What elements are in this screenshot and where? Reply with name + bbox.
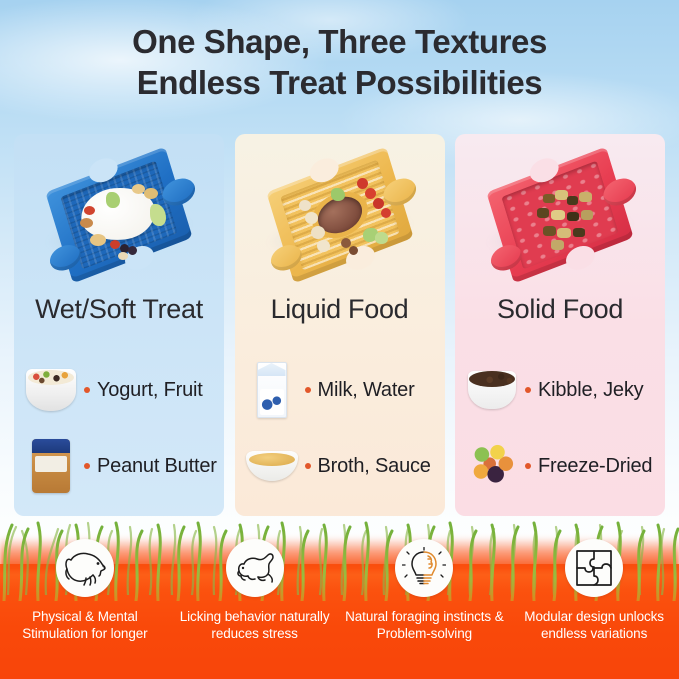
kibble-bowl-icon bbox=[463, 361, 521, 419]
lightbulb-brain-icon bbox=[395, 539, 453, 597]
benefit-modular[interactable]: Modular design unlocks endless variation… bbox=[509, 539, 679, 675]
card-item-list-solid: Kibble, Jeky Freeze-Dried bbox=[455, 352, 665, 504]
texture-card-row: PAWSOME STAY PAWSIT bbox=[0, 134, 679, 516]
card-heading-solid: Solid Food bbox=[455, 294, 665, 325]
benefit-physical-mental[interactable]: Physical & Mental Stimulation for longer bbox=[0, 539, 170, 675]
card-item-list-liquid: Milk, Water Broth, Sauce bbox=[235, 352, 445, 504]
peanut-butter-jar-icon bbox=[22, 437, 80, 495]
bullet-dot bbox=[525, 463, 531, 469]
list-item[interactable]: Freeze-Dried bbox=[455, 428, 665, 504]
bullet-dot bbox=[525, 387, 531, 393]
broth-bowl-icon bbox=[243, 437, 301, 495]
page-title: One Shape, Three Textures Endless Treat … bbox=[0, 22, 679, 104]
list-item-label: Broth, Sauce bbox=[318, 455, 431, 478]
milk-carton-icon bbox=[243, 361, 301, 419]
card-item-list-wet-soft: Yogurt, Fruit Peanut Butter bbox=[14, 352, 224, 504]
list-item-label: Yogurt, Fruit bbox=[97, 379, 203, 402]
freeze-dried-fruit-icon bbox=[463, 437, 521, 495]
card-liquid-food[interactable]: Liquid Food Milk, Water Broth, Sauce bbox=[235, 134, 445, 516]
benefits-row: Physical & Mental Stimulation for longer… bbox=[0, 539, 679, 675]
list-item[interactable]: Peanut Butter bbox=[14, 428, 224, 504]
bullet-dot bbox=[305, 463, 311, 469]
title-line-1: One Shape, Three Textures bbox=[132, 23, 547, 60]
list-item[interactable]: Milk, Water bbox=[235, 352, 445, 428]
card-heading-liquid: Liquid Food bbox=[235, 294, 445, 325]
bullet-dot bbox=[84, 387, 90, 393]
benefit-label: Modular design unlocks endless variation… bbox=[509, 608, 679, 643]
list-item[interactable]: Broth, Sauce bbox=[235, 428, 445, 504]
list-item-label: Kibble, Jeky bbox=[538, 379, 643, 402]
food-crumbs bbox=[235, 140, 445, 290]
benefit-licking[interactable]: Licking behavior naturally reduces stres… bbox=[170, 539, 340, 675]
bullet-dot bbox=[305, 387, 311, 393]
food-crumbs bbox=[455, 140, 665, 290]
list-item[interactable]: Yogurt, Fruit bbox=[14, 352, 224, 428]
puzzle-grid-icon bbox=[565, 539, 623, 597]
list-item[interactable]: Kibble, Jeky bbox=[455, 352, 665, 428]
bullet-dot bbox=[84, 463, 90, 469]
list-item-label: Peanut Butter bbox=[97, 455, 217, 478]
list-item-label: Milk, Water bbox=[318, 379, 415, 402]
mat-image-yellow bbox=[235, 140, 445, 290]
card-wet-soft-treat[interactable]: PAWSOME STAY PAWSIT bbox=[14, 134, 224, 516]
mat-image-red bbox=[455, 140, 665, 290]
benefit-foraging[interactable]: Natural foraging instincts & Problem-sol… bbox=[340, 539, 510, 675]
benefit-label: Licking behavior naturally reduces stres… bbox=[170, 608, 340, 643]
dog-head-profile-icon bbox=[56, 539, 114, 597]
card-solid-food[interactable]: Solid Food Kibble, Jeky Freeze-Dried bbox=[455, 134, 665, 516]
mat-image-blue: PAWSOME STAY PAWSIT bbox=[14, 140, 224, 290]
card-heading-wet-soft: Wet/Soft Treat bbox=[14, 294, 224, 325]
benefit-label: Natural foraging instincts & Problem-sol… bbox=[340, 608, 510, 643]
benefit-label: Physical & Mental Stimulation for longer bbox=[0, 608, 170, 643]
title-line-2: Endless Treat Possibilities bbox=[0, 63, 679, 104]
yogurt-bowl-icon bbox=[22, 361, 80, 419]
dog-licking-icon bbox=[226, 539, 284, 597]
list-item-label: Freeze-Dried bbox=[538, 455, 652, 478]
food-crumbs bbox=[14, 140, 224, 290]
